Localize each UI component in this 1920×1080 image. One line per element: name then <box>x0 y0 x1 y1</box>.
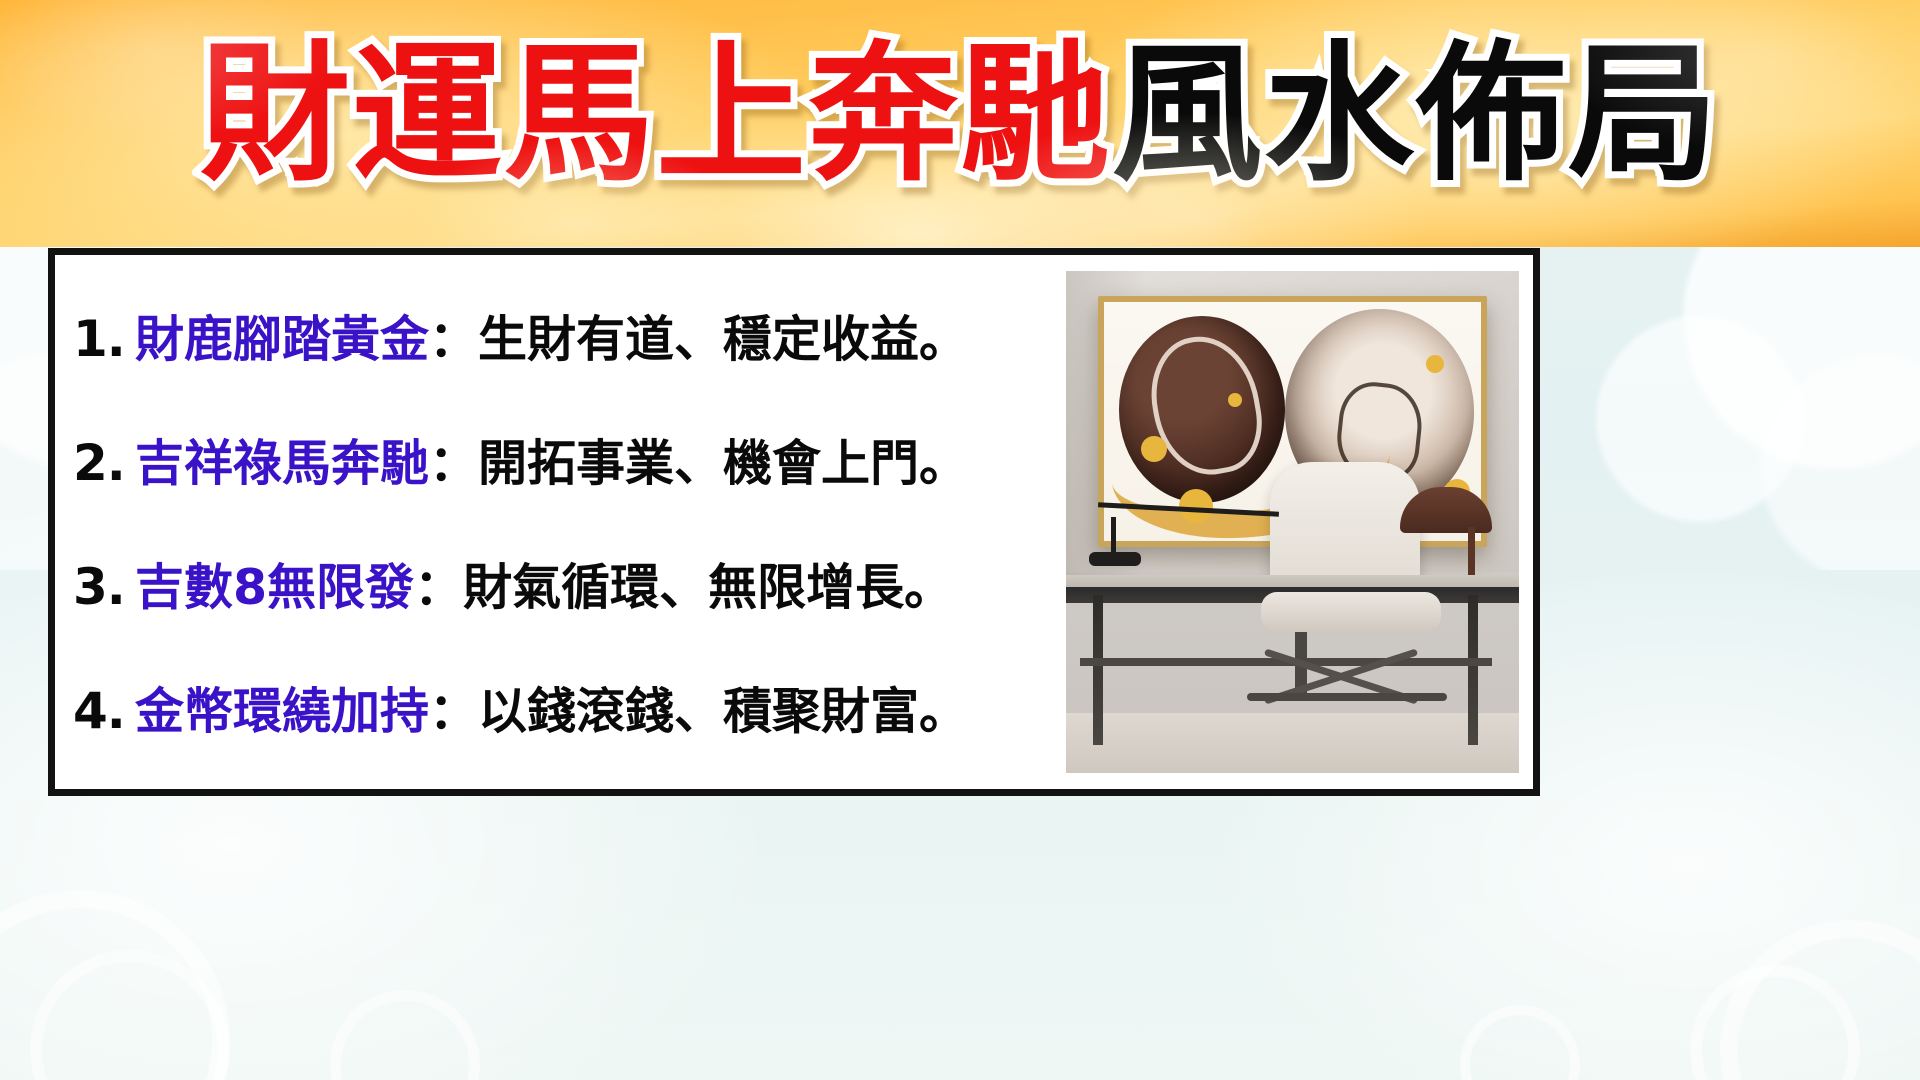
list-item-keyword: 吉數8無限發 <box>135 562 414 615</box>
background-swirl-4 <box>1460 1005 1580 1080</box>
office-chair-seat <box>1261 592 1441 632</box>
gold-coin-dot <box>1179 489 1213 523</box>
poster-root: 財運馬上奔馳風水佈局 1. 財鹿腳踏黃金 ：生財有道、穩定收益。 2. 吉祥祿馬… <box>0 0 1920 1080</box>
gold-coin-dot <box>1426 355 1444 373</box>
photo-floor <box>1066 713 1519 773</box>
list-item-description: ：開拓事業、機會上門。 <box>429 438 968 491</box>
header-banner: 財運馬上奔馳風水佈局 <box>0 0 1920 247</box>
background-swirl-1 <box>0 890 230 1080</box>
background-swirl-6 <box>1720 920 1920 1080</box>
background-swirl-5 <box>1690 965 1860 1080</box>
office-chair-base <box>1247 693 1447 701</box>
list-item-number: 2. <box>73 436 129 490</box>
list-item-keyword: 財鹿腳踏黃金 <box>135 314 429 367</box>
list-item-description: ：生財有道、穩定收益。 <box>429 314 968 367</box>
list-item: 3. 吉數8無限發 ：財氣循環、無限增長。 <box>73 560 1058 615</box>
content-card: 1. 財鹿腳踏黃金 ：生財有道、穩定收益。 2. 吉祥祿馬奔馳 ：開拓事業、機會… <box>48 248 1540 796</box>
desk-leg-left <box>1093 595 1103 746</box>
background-swirl-2 <box>30 950 230 1080</box>
list-item: 2. 吉祥祿馬奔馳 ：開拓事業、機會上門。 <box>73 436 1058 491</box>
benefit-list: 1. 財鹿腳踏黃金 ：生財有道、穩定收益。 2. 吉祥祿馬奔馳 ：開拓事業、機會… <box>73 271 1058 773</box>
list-item-keyword: 金幣環繞加持 <box>135 686 429 739</box>
room-photo <box>1066 271 1519 773</box>
title-black-part: 風水佈局 <box>1112 28 1720 202</box>
list-item-number: 4. <box>73 684 129 738</box>
list-item-number: 1. <box>73 312 129 366</box>
background-flourish-right <box>1540 210 1920 570</box>
background-swirl-3 <box>330 990 480 1080</box>
list-item: 4. 金幣環繞加持 ：以錢滾錢、積聚財富。 <box>73 684 1058 739</box>
desk-lamp-base <box>1089 552 1141 566</box>
list-item-keyword: 吉祥祿馬奔馳 <box>135 438 429 491</box>
list-item-description: ：以錢滾錢、積聚財富。 <box>429 686 968 739</box>
list-item: 1. 財鹿腳踏黃金 ：生財有道、穩定收益。 <box>73 312 1058 367</box>
title-red-part: 財運馬上奔馳 <box>200 28 1112 202</box>
list-item-number: 3. <box>73 560 129 614</box>
list-item-description: ：財氣循環、無限增長。 <box>414 562 953 615</box>
page-title: 財運馬上奔馳風水佈局 <box>0 12 1920 219</box>
desk-leg-right <box>1468 595 1478 746</box>
